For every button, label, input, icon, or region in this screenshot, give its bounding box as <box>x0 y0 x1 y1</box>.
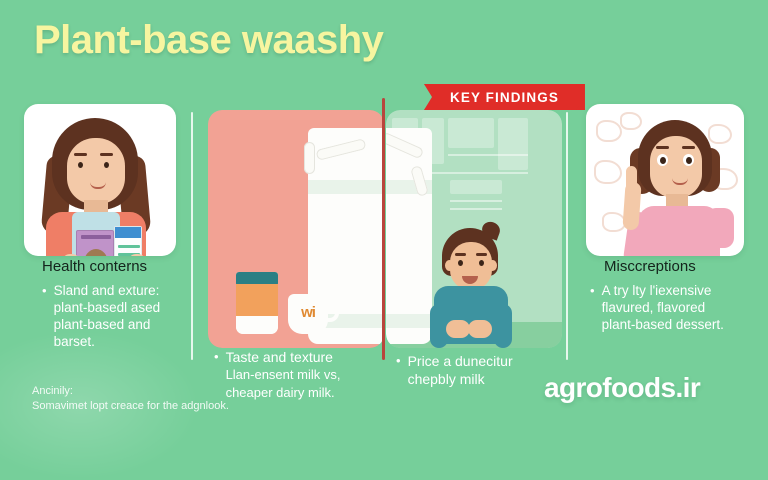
column-heading-health: Health conterns <box>42 258 147 275</box>
woman-pointing-up-illustration <box>586 104 744 256</box>
list-item: • Sland and exture: plant-basedl ased pl… <box>42 282 182 350</box>
footnote-text: Somavimet lopt creace for the adgnlook. <box>32 399 282 414</box>
nutrition-label-icon <box>114 226 142 256</box>
bullet-dot-icon: • <box>42 282 47 350</box>
bullet-list-misconceptions: • A try lty l'iexensive flavured, flavor… <box>590 282 754 333</box>
bullet-list-health: • Sland and exture: plant-basedl ased pl… <box>42 282 182 350</box>
illustration-card-health <box>24 104 176 256</box>
bullet-text: Sland and exture: plant-basedl ased plan… <box>54 282 161 350</box>
column-heading-misconceptions: Misccreptions <box>604 258 696 275</box>
teal-lid-cup <box>236 272 278 334</box>
milk-jug-continued <box>386 128 432 344</box>
list-item: • Price a dunecitur chepbly milk <box>396 352 556 388</box>
bullet-list-price: • Price a dunecitur chepbly milk <box>396 352 556 388</box>
illustration-card-misconceptions <box>586 104 744 256</box>
milk-jug-cups-illustration: wi <box>208 110 384 348</box>
column-divider-red <box>382 98 385 360</box>
bullet-dot-icon: • <box>396 352 401 388</box>
wi-mug: wi <box>288 294 328 334</box>
brand-logo: agrofoods.ir <box>544 372 700 404</box>
footnote-label: Ancinily: <box>32 384 282 399</box>
cereal-box-icon <box>76 230 114 256</box>
column-divider-2 <box>566 112 568 360</box>
key-findings-badge: KEY FINDINGS <box>424 84 585 110</box>
infographic-canvas: Plant-base waashy KEY FINDINGS <box>0 0 768 432</box>
boy-with-milk-illustration <box>386 110 562 348</box>
woman-reading-package-illustration <box>24 104 176 256</box>
illustration-card-taste: wi <box>208 110 384 348</box>
footnote: Ancinily: Somavimet lopt creace for the … <box>32 384 282 414</box>
bullet-text: Price a dunecitur chepbly milk <box>408 352 513 388</box>
bullet-dot-icon: • <box>590 282 595 333</box>
bullet-text: A try lty l'iexensive flavured, flavored… <box>602 282 724 333</box>
list-item: • A try lty l'iexensive flavured, flavor… <box>590 282 754 333</box>
column-divider-1 <box>191 112 193 360</box>
mug-label: wi <box>288 304 328 321</box>
page-title: Plant-base waashy <box>34 18 383 63</box>
illustration-card-price <box>386 110 562 348</box>
pointing-finger-icon <box>626 166 637 192</box>
straw-stem-icon <box>304 142 315 174</box>
ribbon-banner-icon: KEY FINDINGS <box>424 84 585 110</box>
badge-label: KEY FINDINGS <box>450 90 559 105</box>
